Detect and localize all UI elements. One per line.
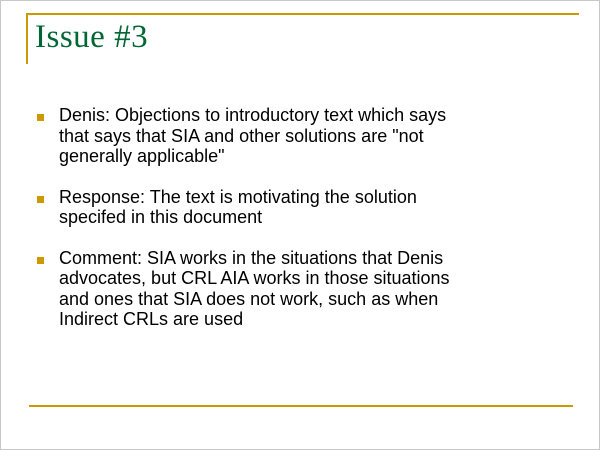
list-item: Denis: Objections to introductory text w…	[37, 105, 567, 167]
title-top-rule	[26, 13, 579, 15]
list-item: Response: The text is motivating the sol…	[37, 187, 567, 228]
list-item-text: Denis: Objections to introductory text w…	[59, 105, 567, 167]
page-title: Issue #3	[35, 18, 148, 56]
square-bullet-icon	[37, 196, 44, 203]
square-bullet-icon	[37, 114, 44, 121]
footer-rule	[29, 405, 573, 407]
slide-canvas: Issue #3 Denis: Objections to introducto…	[0, 0, 600, 450]
list-item-text: Comment: SIA works in the situations tha…	[59, 248, 567, 330]
list-item: Comment: SIA works in the situations tha…	[37, 248, 567, 330]
title-left-rule	[26, 13, 28, 64]
list-item-text: Response: The text is motivating the sol…	[59, 187, 567, 228]
square-bullet-icon	[37, 257, 44, 264]
bullet-list: Denis: Objections to introductory text w…	[37, 105, 567, 330]
